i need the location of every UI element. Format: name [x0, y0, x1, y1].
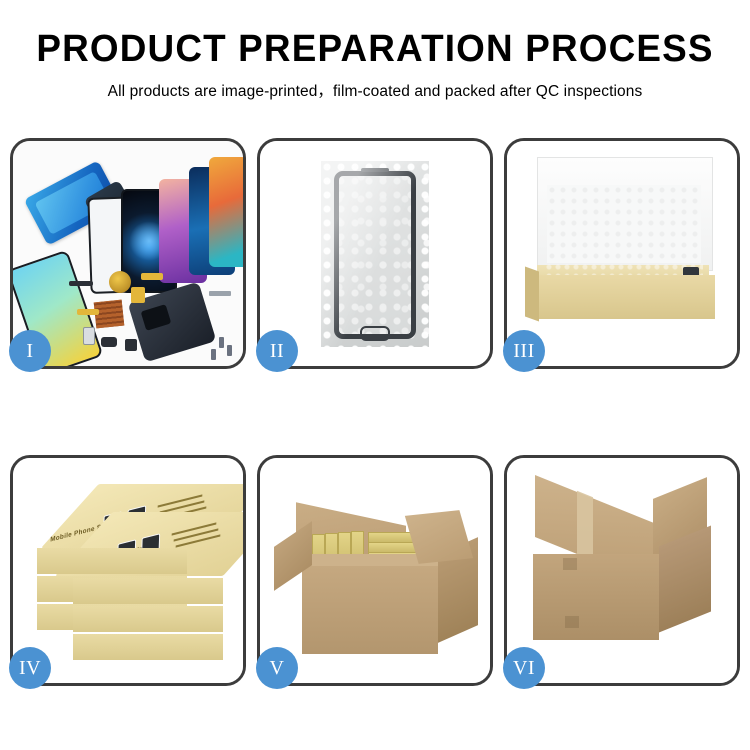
bar-part-1 — [69, 281, 93, 286]
box-side — [37, 548, 187, 574]
step-4-image: Mobile Phone Spare Parts Mobile Phone Sp… — [13, 458, 243, 683]
small-part — [83, 327, 95, 345]
sealed-carton-front — [533, 554, 659, 640]
screw-3 — [211, 349, 216, 360]
box-left-panel — [525, 266, 539, 321]
process-steps-grid: I II III — [10, 138, 740, 686]
step-card-2[interactable]: II — [257, 138, 493, 369]
carton-tab-top — [563, 558, 577, 570]
coil-part — [109, 271, 131, 293]
bubble-wrapped-screen — [321, 161, 429, 347]
flex-cable-2 — [131, 287, 145, 303]
bar-part-3 — [125, 339, 137, 351]
step-card-4[interactable]: Mobile Phone Spare Parts Mobile Phone Sp… — [10, 455, 246, 686]
step-badge-2: II — [256, 330, 298, 372]
step-badge-4: IV — [9, 647, 51, 689]
stacked-box-4 — [73, 578, 223, 604]
phone-screen-orange — [209, 157, 243, 267]
step-badge-5: V — [256, 647, 298, 689]
step-2-image — [260, 141, 490, 366]
flex-cable-3 — [77, 309, 99, 315]
box-side — [73, 578, 223, 604]
stacked-box-1 — [37, 548, 187, 574]
bar-part-2 — [101, 337, 117, 347]
carton-tab-bottom — [565, 616, 579, 628]
step-card-3[interactable]: III — [504, 138, 740, 369]
page-subtitle: All products are image-printed，film-coat… — [0, 79, 750, 101]
step-badge-3: III — [503, 330, 545, 372]
flex-cable-1 — [141, 273, 163, 280]
stacked-box-5 — [73, 606, 223, 632]
carton-front — [302, 566, 438, 654]
film-sheen — [321, 161, 429, 347]
step-badge-6: VI — [503, 647, 545, 689]
step-card-1[interactable]: I — [10, 138, 246, 369]
box-front-panel — [533, 275, 715, 319]
product-preparation-infographic: PRODUCT PREPARATION PROCESS All products… — [0, 0, 750, 750]
step-badge-1: I — [9, 330, 51, 372]
screw-2 — [227, 345, 232, 356]
step-card-6[interactable]: VI — [504, 455, 740, 686]
header: PRODUCT PREPARATION PROCESS All products… — [0, 0, 750, 101]
box-side — [73, 634, 223, 660]
step-3-image — [507, 141, 737, 366]
tool-1 — [209, 291, 231, 296]
step-card-5[interactable]: V — [257, 455, 493, 686]
stacked-box-6 — [73, 634, 223, 660]
step-5-image — [260, 458, 490, 683]
step-6-image — [507, 458, 737, 683]
box-stack: Mobile Phone Spare Parts Mobile Phone Sp… — [19, 482, 241, 670]
page-title: PRODUCT PREPARATION PROCESS — [11, 30, 739, 68]
foam-insert — [547, 185, 701, 263]
step-1-image — [13, 141, 243, 366]
screw-1 — [219, 337, 224, 348]
box-side — [73, 606, 223, 632]
